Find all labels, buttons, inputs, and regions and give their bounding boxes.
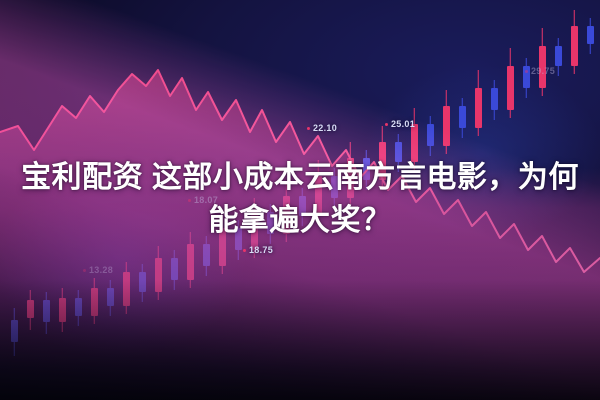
area-fill — [0, 70, 600, 400]
banner-image: 22.1025.0129.7518.0718.7513.28 宝利配资 这部小成… — [0, 0, 600, 400]
price-area-chart — [0, 0, 600, 400]
